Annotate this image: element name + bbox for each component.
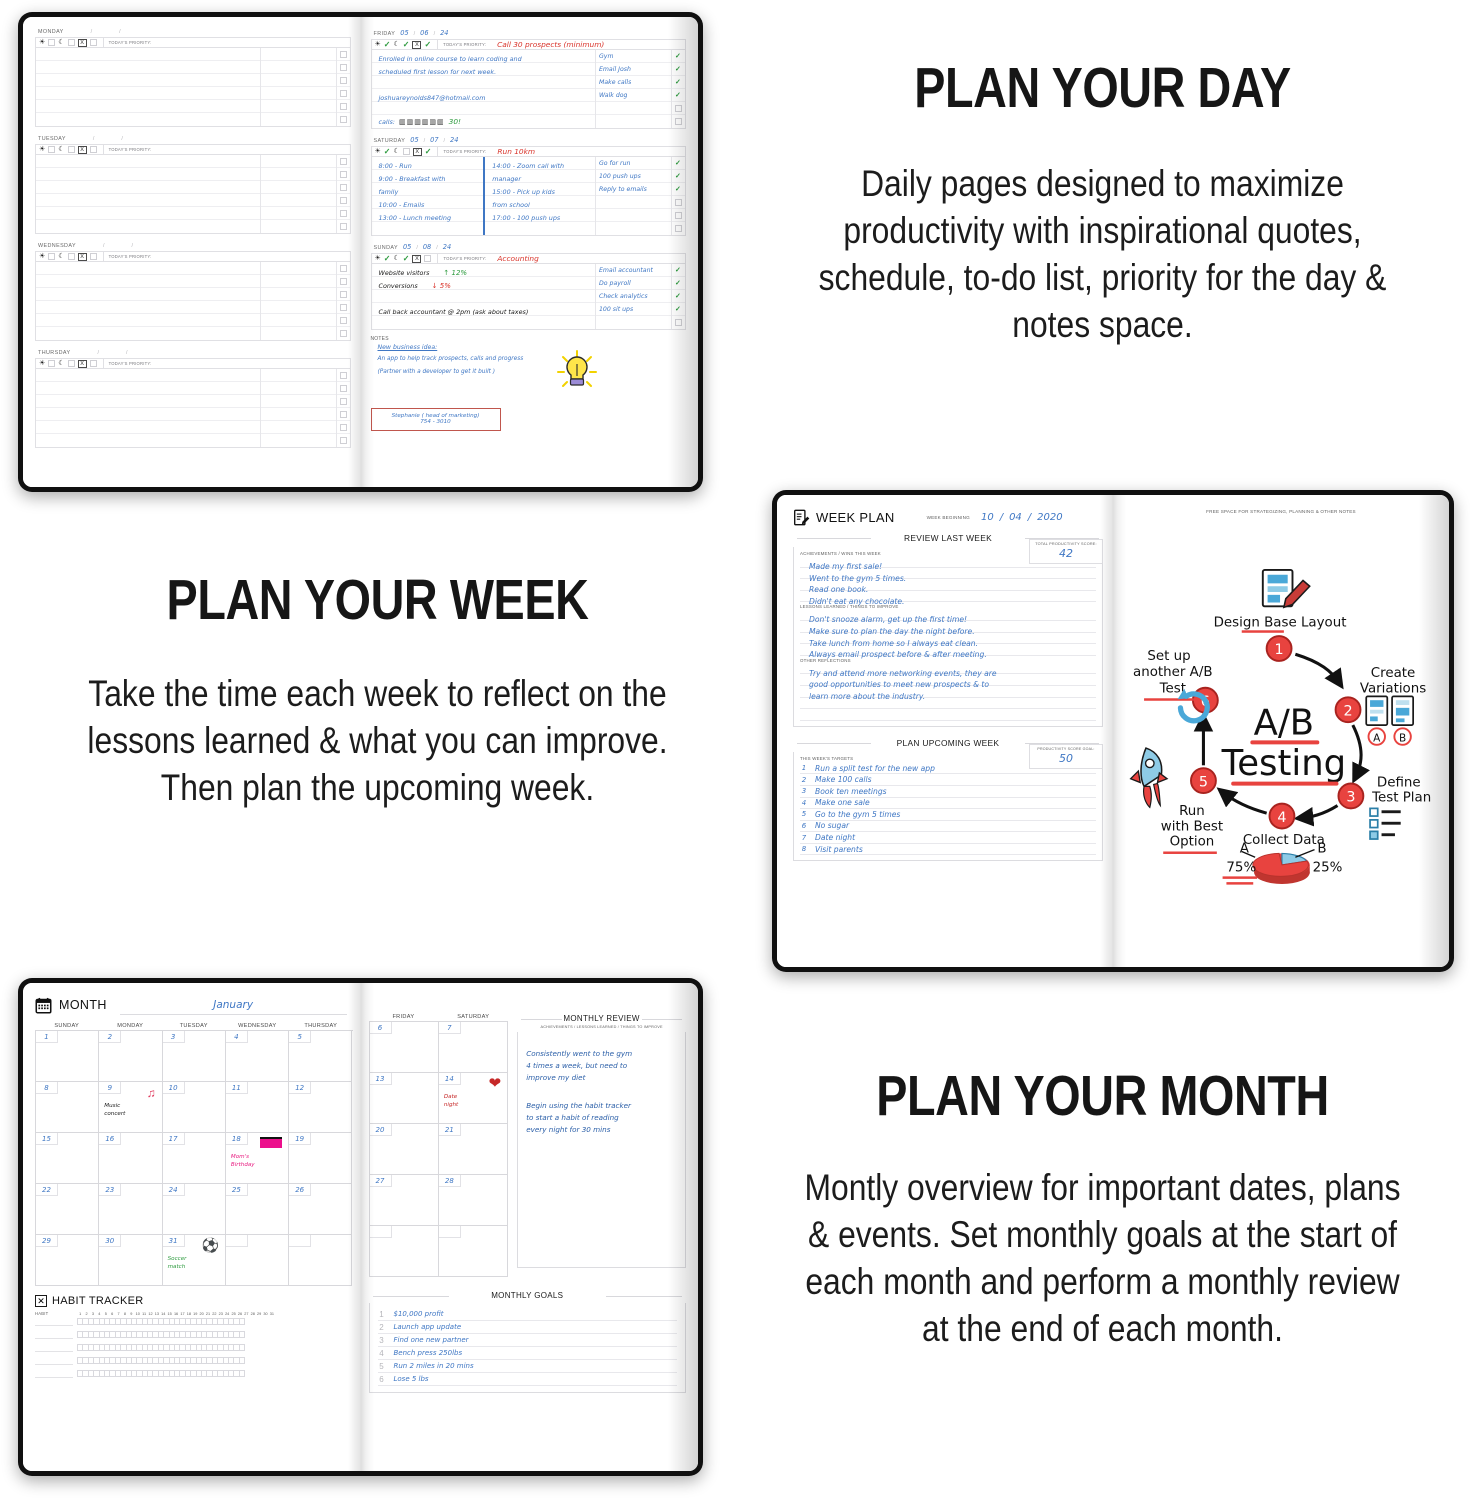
- saturday-schedule[interactable]: 8:00 - Run 9:00 - Breakfast with family …: [372, 157, 596, 235]
- calendar-cell[interactable]: 1: [36, 1031, 99, 1082]
- evening-checkbox[interactable]: [68, 360, 75, 367]
- todo-item[interactable]: Email accountant: [596, 264, 671, 277]
- target-text: Run a split test for the new app: [815, 764, 935, 773]
- soccer-ball-icon: ⚽: [201, 1237, 218, 1253]
- todo-check[interactable]: [672, 196, 685, 209]
- todo-item[interactable]: [596, 115, 671, 128]
- day-name: TUESDAY: [38, 136, 66, 142]
- calendar-cell[interactable]: 16: [99, 1133, 162, 1184]
- written-line[interactable]: good opportunities to meet new prospects…: [800, 674, 1096, 686]
- x-box-icon[interactable]: X: [412, 41, 421, 49]
- sunday-year: 24: [443, 243, 451, 251]
- note-line[interactable]: calls: ▥▥▥▥▥▥ 30!: [372, 115, 596, 128]
- calendar-cell[interactable]: 4: [226, 1031, 289, 1082]
- todo-area[interactable]: [260, 262, 336, 340]
- note-line[interactable]: Conversions↓ 5%: [372, 277, 596, 290]
- heart-icon: ❤: [489, 1075, 502, 1092]
- calendar-cell[interactable]: 18 Mom'sBirthday: [226, 1133, 289, 1184]
- todo-item[interactable]: [596, 102, 671, 115]
- monthly-review-sub: ACHIEVEMENTS / LESSONS LEARNED / THINGS …: [517, 1025, 686, 1029]
- note-text: (Partner with a developer to get it buil…: [378, 369, 496, 375]
- notes-area[interactable]: [36, 262, 260, 340]
- day-name: THURSDAY: [38, 350, 70, 356]
- written-line[interactable]: Went to the gym 5 times.: [800, 568, 1096, 580]
- calendar-cell[interactable]: 6: [370, 1022, 439, 1073]
- calendar-cell-empty[interactable]: [370, 1226, 439, 1277]
- target-number: 6: [800, 822, 808, 830]
- review-line: 4 times a week, but need to: [526, 1060, 677, 1072]
- schedule-text: family: [379, 188, 399, 196]
- calendar-day-number: 5: [289, 1031, 311, 1043]
- sunrise-icon: ☀: [375, 255, 381, 262]
- calendar-day-number: 8: [36, 1082, 58, 1094]
- habit-day-cell[interactable]: [239, 1331, 245, 1337]
- todo-item[interactable]: 100 push ups: [596, 170, 671, 183]
- target-item[interactable]: 5 Go to the gym 5 times: [800, 809, 1096, 821]
- todo-text: Email accountant: [599, 267, 653, 274]
- calendar-cell[interactable]: 31⚽ Soccermatch: [163, 1235, 226, 1286]
- habit-row[interactable]: [35, 1330, 353, 1339]
- note-text: Call back accountant @ 2pm (ask about ta…: [379, 308, 529, 316]
- todo-check[interactable]: ✓: [672, 183, 685, 196]
- plan-your-day-heading: PLAN YOUR DAY: [809, 60, 1395, 117]
- todo-checks[interactable]: [336, 369, 350, 447]
- todo-area[interactable]: [260, 369, 336, 447]
- todo-item[interactable]: [596, 222, 671, 235]
- week-left-page: WEEK PLAN WEEK BEGINNING 10 / 04 / 2020 …: [777, 495, 1113, 967]
- monthly-goals-heading: MONTHLY GOALS: [369, 1291, 687, 1300]
- habit-name-field[interactable]: [35, 1369, 73, 1378]
- two-screens-icon: [1366, 696, 1413, 725]
- friday-notes[interactable]: Enrolled in online course to learn codin…: [372, 50, 596, 128]
- slash-3: /: [424, 138, 426, 144]
- schedule-text: 14:00 - Zoom call with: [492, 162, 564, 170]
- day-body: [35, 369, 351, 448]
- note-line[interactable]: [372, 316, 596, 329]
- sunday-month: 05: [403, 243, 411, 251]
- evening-check[interactable]: ✓: [403, 40, 410, 49]
- calendar-cell[interactable]: 29: [36, 1235, 99, 1286]
- todo-item[interactable]: [596, 209, 671, 222]
- calendar-day-headers-right: FRIDAYSATURDAY: [369, 1014, 509, 1020]
- review-paragraph[interactable]: Consistently went to the gym4 times a we…: [526, 1048, 677, 1084]
- day-block-saturday: SATURDAY 05 / 07 / 24 ☀ ✓ ☾ X ✓ T: [371, 136, 687, 236]
- goal-item[interactable]: 4 Bench press 250lbs: [378, 1347, 678, 1360]
- morning-check[interactable]: ✓: [384, 40, 391, 49]
- calendar-cell[interactable]: 19: [289, 1133, 352, 1184]
- goal-item[interactable]: 6 Lose 5 lbs: [378, 1373, 678, 1386]
- schedule-text: 8:00 - Run: [379, 162, 412, 170]
- saturday-schedule-morning[interactable]: 8:00 - Run 9:00 - Breakfast with family …: [372, 157, 484, 235]
- note-line[interactable]: [372, 76, 596, 89]
- plan-your-month-text: PLAN YOUR MONTH Montly overview for impo…: [745, 1068, 1460, 1353]
- slash: /: [93, 136, 95, 142]
- notes-area[interactable]: [36, 155, 260, 233]
- evening-checkbox[interactable]: [68, 253, 75, 260]
- month-value-field[interactable]: January: [120, 995, 347, 1015]
- evening-checkbox[interactable]: [68, 39, 75, 46]
- morning-check[interactable]: ✓: [384, 254, 391, 263]
- calendar-cell-empty[interactable]: [226, 1235, 289, 1286]
- written-line[interactable]: Always email prospect before & after mee…: [800, 644, 1096, 656]
- plan-your-month-heading: PLAN YOUR MONTH: [809, 1068, 1395, 1125]
- x-checkbox[interactable]: [90, 146, 97, 153]
- svg-text:A: A: [1373, 732, 1381, 744]
- priority-label: TODAY'S PRIORITY:: [437, 40, 486, 49]
- calendar-cell[interactable]: 30: [99, 1235, 162, 1286]
- note-line[interactable]: Enrolled in online course to learn codin…: [372, 50, 596, 63]
- goal-item[interactable]: 5 Run 2 miles in 20 mins: [378, 1360, 678, 1373]
- calendar-cell[interactable]: 13: [370, 1073, 439, 1124]
- x-check[interactable]: ✓: [424, 40, 431, 49]
- calendar-cell[interactable]: 27: [370, 1175, 439, 1226]
- todo-item[interactable]: [596, 316, 671, 329]
- score-label: TOTAL PRODUCTIVITY SCORE:: [1030, 542, 1102, 546]
- slash-6: /: [436, 245, 438, 251]
- saturday-schedule-afternoon[interactable]: 14:00 - Zoom call with manager 15:00 - P…: [483, 157, 595, 235]
- schedule-line[interactable]: 10:00 - Emails: [372, 196, 484, 209]
- calendar-cell[interactable]: 22: [36, 1184, 99, 1235]
- calendar-cell[interactable]: 7: [439, 1022, 508, 1073]
- todo-text: Gym: [599, 53, 613, 60]
- habit-rows[interactable]: [35, 1317, 353, 1378]
- note-line[interactable]: Call back accountant @ 2pm (ask about ta…: [372, 303, 596, 316]
- schedule-line[interactable]: 14:00 - Zoom call with: [485, 157, 595, 170]
- target-text: Make one sale: [815, 798, 870, 807]
- calendar-cell[interactable]: 23: [99, 1184, 162, 1235]
- calendar-cell[interactable]: 21: [439, 1124, 508, 1175]
- todo-check[interactable]: ✓: [672, 264, 685, 277]
- calendar-cell[interactable]: 14❤ Datenight: [439, 1073, 508, 1124]
- note-text: joshuareynolds847@hotmail.com: [379, 94, 486, 102]
- todo-item[interactable]: Go for run: [596, 157, 671, 170]
- schedule-text: 15:00 - Pick up kids: [492, 188, 555, 196]
- slash-1: /: [414, 31, 416, 37]
- todo-check[interactable]: ✓: [672, 76, 685, 89]
- plan-your-day-text: PLAN YOUR DAY Daily pages designed to ma…: [745, 60, 1460, 349]
- x-box-icon[interactable]: X: [78, 39, 87, 47]
- schedule-line[interactable]: 15:00 - Pick up kids: [485, 183, 595, 196]
- month-title: MONTH: [59, 998, 107, 1012]
- written-line[interactable]: Take lunch from home so I always eat cle…: [800, 633, 1096, 645]
- calendar-cell[interactable]: 9♫ Musicconcert: [99, 1082, 162, 1133]
- calendar-event[interactable]: [226, 1135, 288, 1153]
- calendar-event[interactable]: ♫: [99, 1084, 161, 1102]
- calendar-cell-empty[interactable]: [289, 1235, 352, 1286]
- calendar-cell[interactable]: 12: [289, 1082, 352, 1133]
- target-number: 5: [800, 810, 808, 818]
- goal-item[interactable]: 3 Find one new partner: [378, 1334, 678, 1347]
- friday-header: FRIDAY 05 / 06 / 24: [371, 29, 687, 37]
- calendar-cell[interactable]: 15: [36, 1133, 99, 1184]
- todo-check[interactable]: ✓: [672, 277, 685, 290]
- day-body: [35, 48, 351, 127]
- calendar-right-column: FRIDAYSATURDAY 6 7 13 14❤ Datenight 20 2…: [369, 995, 509, 1277]
- contact-phone: 754 - 3010: [372, 419, 500, 425]
- target-item[interactable]: 4 Make one sale: [800, 798, 1096, 810]
- calendar-cell[interactable]: 5: [289, 1031, 352, 1082]
- x-box-icon[interactable]: X: [412, 255, 421, 263]
- todo-text: 100 sit ups: [599, 306, 633, 313]
- todo-item[interactable]: Make calls: [596, 76, 671, 89]
- target-item[interactable]: 8 Visit parents: [800, 844, 1096, 856]
- written-line[interactable]: Read one book.: [800, 579, 1096, 591]
- targets-list[interactable]: 1 Run a split test for the new app 2 Mak…: [800, 763, 1096, 856]
- note-line[interactable]: Website visitors↑ 12%: [372, 264, 596, 277]
- saturday-body: 8:00 - Run 9:00 - Breakfast with family …: [371, 157, 687, 236]
- habit-day-cell[interactable]: [239, 1344, 245, 1350]
- friday-todo-checks: ✓✓✓✓: [671, 50, 685, 128]
- notes-area[interactable]: [36, 48, 260, 126]
- monthly-goals-list[interactable]: 1 $10,000 profit 2 Launch app update 3 F…: [369, 1303, 687, 1393]
- todo-item[interactable]: Do payroll: [596, 277, 671, 290]
- habit-day-cell[interactable]: [239, 1357, 245, 1363]
- target-item[interactable]: 7 Date night: [800, 832, 1096, 844]
- svg-text:another A/B: another A/B: [1133, 665, 1212, 680]
- moon-icon: ☾: [393, 255, 399, 262]
- note-line[interactable]: scheduled first lesson for next week.: [372, 63, 596, 76]
- note-line[interactable]: joshuareynolds847@hotmail.com: [372, 89, 596, 102]
- svg-text:Option: Option: [1170, 835, 1215, 850]
- todo-item[interactable]: Gym: [596, 50, 671, 63]
- todo-check[interactable]: [672, 115, 685, 128]
- svg-text:Test Plan: Test Plan: [1371, 791, 1431, 806]
- target-item[interactable]: 3 Book ten meetings: [800, 786, 1096, 798]
- schedule-line[interactable]: from school: [485, 196, 595, 209]
- review-paragraph[interactable]: Begin using the habit trackerto start a …: [526, 1100, 677, 1136]
- morning-checkbox[interactable]: [48, 39, 55, 46]
- schedule-line[interactable]: 13:00 - Lunch meeting: [372, 209, 484, 222]
- calendar-cell[interactable]: 28: [439, 1175, 508, 1226]
- note-line[interactable]: [372, 290, 596, 303]
- ab-testing-diagram: A/B Testing Design Base Layout: [1123, 518, 1439, 936]
- todo-check[interactable]: ✓: [672, 89, 685, 102]
- evening-checkbox[interactable]: [68, 146, 75, 153]
- sunday-notes[interactable]: Website visitors↑ 12% Conversions↓ 5% Ca…: [372, 264, 596, 329]
- goal-text: Lose 5 lbs: [394, 1375, 429, 1383]
- calendar-day-header: FRIDAY: [369, 1014, 439, 1020]
- calendar-cell[interactable]: 11: [226, 1082, 289, 1133]
- todo-check[interactable]: ✓: [672, 157, 685, 170]
- written-line[interactable]: Make sure to plan the day the night befo…: [800, 621, 1096, 633]
- week-right-page: FREE SPACE FOR STRATEGIZING, PLANNING & …: [1113, 495, 1449, 967]
- calendar-cell[interactable]: 20: [370, 1124, 439, 1175]
- calendar-cell[interactable]: 8: [36, 1082, 99, 1133]
- morning-check[interactable]: ✓: [384, 147, 391, 156]
- todo-check[interactable]: [672, 222, 685, 235]
- sunrise-icon: ☀: [39, 253, 45, 260]
- todo-item[interactable]: Reply to emails: [596, 183, 671, 196]
- priority-row[interactable]: ☀ ☾ X TODAY'S PRIORITY:: [35, 358, 351, 369]
- todo-check[interactable]: [672, 316, 685, 329]
- monthly-review-body[interactable]: Consistently went to the gym4 times a we…: [517, 1032, 686, 1268]
- written-line[interactable]: Try and attend more networking events, t…: [800, 663, 1096, 675]
- x-checkbox[interactable]: [90, 39, 97, 46]
- todo-text: Go for run: [599, 160, 630, 167]
- slash-2: /: [434, 31, 436, 37]
- morning-checkbox[interactable]: [48, 360, 55, 367]
- todo-check[interactable]: [672, 209, 685, 222]
- x-checkbox[interactable]: [424, 255, 431, 262]
- x-check[interactable]: ✓: [425, 147, 432, 156]
- tally-marks: ▥▥▥▥▥▥: [399, 118, 445, 126]
- sunday-priority-row[interactable]: ☀ ✓ ☾ ✓ X TODAY'S PRIORITY: Accounting: [371, 253, 687, 264]
- habit-name-field[interactable]: [35, 1330, 73, 1339]
- calendar-cell[interactable]: 25: [226, 1184, 289, 1235]
- todo-text: Do payroll: [599, 280, 631, 287]
- priority-label: TODAY'S PRIORITY:: [103, 359, 152, 368]
- priority-row[interactable]: ☀ ☾ X TODAY'S PRIORITY:: [35, 251, 351, 262]
- todo-item[interactable]: Check analytics: [596, 290, 671, 303]
- todo-checks[interactable]: [336, 48, 350, 126]
- calendar-event[interactable]: ⚽: [163, 1237, 225, 1255]
- todo-item[interactable]: 100 sit ups: [596, 303, 671, 316]
- todo-item[interactable]: [596, 196, 671, 209]
- goal-text: Bench press 250lbs: [394, 1349, 463, 1357]
- habit-name-field[interactable]: [35, 1343, 73, 1352]
- reflections-list[interactable]: Try and attend more networking events, t…: [800, 663, 1096, 721]
- evening-check[interactable]: ✓: [403, 254, 410, 263]
- morning-checkbox[interactable]: [48, 146, 55, 153]
- habit-day-cell[interactable]: [239, 1318, 245, 1324]
- tuesday-header: TUESDAY / /: [35, 136, 351, 142]
- month-planner-notebook: MONTH January SUNDAYMONDAYTUESDAYWEDNESD…: [18, 978, 703, 1476]
- x-box-icon[interactable]: X: [78, 360, 87, 368]
- morning-checkbox[interactable]: [48, 253, 55, 260]
- target-item[interactable]: 2 Make 100 calls: [800, 774, 1096, 786]
- goal-item[interactable]: 1 $10,000 profit: [378, 1308, 678, 1321]
- lessons-list[interactable]: Don't snooze alarm, get up the first tim…: [800, 609, 1096, 655]
- habit-row[interactable]: [35, 1317, 353, 1326]
- written-line[interactable]: Don't snooze alarm, get up the first tim…: [800, 609, 1096, 621]
- thursday-header: THURSDAY / /: [35, 350, 351, 356]
- x-box-icon[interactable]: X: [413, 148, 422, 156]
- saturday-month: 05: [410, 136, 418, 144]
- sunrise-icon: ☀: [39, 146, 45, 153]
- calendar-cell[interactable]: 2: [99, 1031, 162, 1082]
- written-line[interactable]: [800, 709, 1096, 721]
- pie-chart-icon: [1253, 853, 1310, 884]
- todo-item[interactable]: Walk dog: [596, 89, 671, 102]
- slash: /: [126, 350, 128, 356]
- schedule-line[interactable]: 8:00 - Run: [372, 157, 484, 170]
- written-line[interactable]: Didn't eat any chocolate.: [800, 591, 1096, 603]
- habit-day-cell[interactable]: [239, 1370, 245, 1376]
- note-line[interactable]: (Partner with a developer to get it buil…: [378, 364, 687, 377]
- calendar-cell[interactable]: 17: [163, 1133, 226, 1184]
- calendar-event[interactable]: ❤: [439, 1075, 507, 1093]
- habit-row[interactable]: [35, 1356, 353, 1365]
- calendar-cell[interactable]: 26: [289, 1184, 352, 1235]
- note-line[interactable]: An app to help track prospects, calls an…: [378, 351, 687, 364]
- calendar-cell[interactable]: 10: [163, 1082, 226, 1133]
- saturday-priority-value: Run 10km: [489, 147, 535, 156]
- calendar-cell-empty[interactable]: [439, 1226, 508, 1277]
- todo-check[interactable]: ✓: [672, 63, 685, 76]
- week-date-year: 2020: [1037, 512, 1062, 523]
- target-item[interactable]: 6 No sugar: [800, 821, 1096, 833]
- note-text: Website visitors: [379, 269, 430, 277]
- day-body: [35, 262, 351, 341]
- todo-check[interactable]: ✓: [672, 170, 685, 183]
- day-body: [35, 155, 351, 234]
- calendar-event-label: Datenight: [444, 1093, 458, 1109]
- todo-checks[interactable]: [336, 262, 350, 340]
- saturday-name: SATURDAY: [374, 138, 406, 144]
- notes-area[interactable]: [36, 369, 260, 447]
- priority-row[interactable]: ☀ ☾ X TODAY'S PRIORITY:: [35, 144, 351, 155]
- habit-name-field[interactable]: [35, 1317, 73, 1326]
- svg-text:75%: 75%: [1226, 861, 1256, 876]
- month-value: January: [213, 999, 253, 1011]
- calendar-grid-left[interactable]: 1 2 3 4 5 8 9♫ Musicconcert 10 11 12 15 …: [35, 1030, 353, 1286]
- calendar-cell[interactable]: 3: [163, 1031, 226, 1082]
- calendar-cell[interactable]: 24: [163, 1184, 226, 1235]
- habit-name-field[interactable]: [35, 1356, 73, 1365]
- friday-year: 24: [440, 29, 448, 37]
- todo-checks[interactable]: [336, 155, 350, 233]
- calendar-event-label: Soccermatch: [168, 1255, 187, 1271]
- x-checkbox[interactable]: [90, 360, 97, 367]
- saturday-year: 24: [450, 136, 458, 144]
- target-text: Visit parents: [815, 845, 863, 854]
- todo-area[interactable]: [260, 48, 336, 126]
- todo-area[interactable]: [260, 155, 336, 233]
- schedule-line[interactable]: family: [372, 183, 484, 196]
- goal-item[interactable]: 2 Launch app update: [378, 1321, 678, 1334]
- line-text: [800, 715, 809, 724]
- schedule-line[interactable]: 9:00 - Breakfast with: [372, 170, 484, 183]
- priority-label: TODAY'S PRIORITY:: [437, 254, 486, 263]
- evening-checkbox[interactable]: [403, 148, 410, 155]
- x-checkbox[interactable]: [90, 253, 97, 260]
- infographic-root: PLAN YOUR DAY Daily pages designed to ma…: [0, 0, 1470, 1500]
- todo-text: Email Josh: [599, 66, 631, 73]
- goal-text: Find one new partner: [394, 1336, 469, 1344]
- goal-number: 4: [378, 1349, 386, 1358]
- schedule-line[interactable]: 17:00 - 100 push ups: [485, 209, 595, 222]
- todo-text: Check analytics: [599, 293, 648, 300]
- schedule-line[interactable]: manager: [485, 170, 595, 183]
- note-line[interactable]: [372, 102, 596, 115]
- schedule-text: 17:00 - 100 push ups: [492, 214, 560, 222]
- saturday-priority-row[interactable]: ☀ ✓ ☾ X ✓ TODAY'S PRIORITY: Run 10km: [371, 146, 687, 157]
- x-box-icon[interactable]: X: [78, 253, 87, 261]
- friday-priority-value: Call 30 prospects (minimum): [489, 40, 604, 49]
- priority-label: TODAY'S PRIORITY:: [103, 38, 152, 47]
- target-text: Go to the gym 5 times: [815, 810, 900, 819]
- notes-lines[interactable]: An app to help track prospects, calls an…: [371, 351, 687, 377]
- calendar-day-number: 4: [226, 1031, 248, 1043]
- calendar-day-number: 17: [163, 1133, 185, 1145]
- calendar-day-header: WEDNESDAY: [226, 1023, 290, 1029]
- calendar-day-number: 19: [289, 1133, 311, 1145]
- priority-row[interactable]: ☀ ☾ X TODAY'S PRIORITY:: [35, 37, 351, 48]
- todo-check[interactable]: ✓: [672, 303, 685, 316]
- todo-check[interactable]: [672, 102, 685, 115]
- habit-row[interactable]: [35, 1343, 353, 1352]
- habit-row[interactable]: [35, 1369, 353, 1378]
- sunday-priority-value: Accounting: [489, 254, 538, 263]
- todo-check[interactable]: ✓: [672, 290, 685, 303]
- notes-label: NOTES: [371, 336, 687, 342]
- todo-item[interactable]: Email Josh: [596, 63, 671, 76]
- todo-check[interactable]: ✓: [672, 50, 685, 63]
- target-number: 2: [800, 776, 808, 784]
- calendar-grid-right[interactable]: 6 7 13 14❤ Datenight 20 21 27 28: [369, 1021, 509, 1277]
- x-box-icon[interactable]: X: [78, 146, 87, 154]
- friday-priority-row[interactable]: ☀ ✓ ☾ ✓ X ✓ TODAY'S PRIORITY: Call 30 pr…: [371, 39, 687, 50]
